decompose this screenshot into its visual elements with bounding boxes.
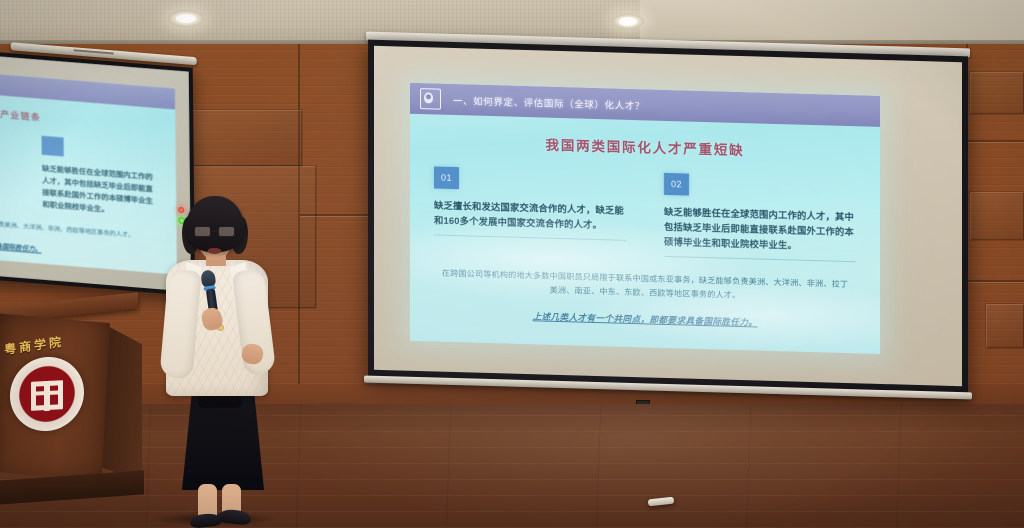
podium-front-panel: 粤 商 学 院 [0, 313, 110, 481]
institution-seal-icon [10, 355, 84, 433]
book-globe-icon [420, 88, 441, 110]
presenter-hair [186, 196, 244, 252]
lecture-hall-scene: 人才产业链条 缺乏能够胜任在全球范围内工作的人才，其中包括缺乏毕业后即能直接联系… [0, 0, 1024, 528]
wall-panel [986, 304, 1024, 348]
podium-base [0, 470, 144, 505]
slide-background-wash [410, 199, 880, 354]
main-screen-frame: 一、如何界定、评估国际（全球）化人才？ 我国两类国际化人才严重短缺 01 缺乏擅… [368, 40, 968, 393]
glasses-bridge [211, 230, 218, 232]
wall-panel [186, 110, 302, 166]
glasses-icon [194, 226, 236, 237]
emblem-char: 粤 [4, 339, 17, 358]
slide-main-title: 我国两类国际化人才严重短缺 [410, 130, 880, 163]
glasses-lens [194, 226, 211, 237]
downlight-icon [168, 10, 204, 27]
downlight-icon [612, 14, 644, 29]
glasses-lens [218, 226, 235, 237]
presenter-mouth [208, 248, 221, 254]
main-screen-surface: 一、如何界定、评估国际（全球）化人才？ 我国两类国际化人才严重短缺 01 缺乏擅… [374, 46, 962, 386]
emblem-char: 商 [19, 337, 32, 356]
presentation-slide: 一、如何界定、评估国际（全球）化人才？ 我国两类国际化人才严重短缺 01 缺乏擅… [410, 83, 880, 354]
institution-name: 粤 商 学 院 [4, 329, 91, 357]
wall-panel [970, 72, 1024, 114]
emblem-char: 院 [49, 333, 62, 352]
seal-glyph [27, 373, 67, 415]
column-badge: 02 [664, 173, 689, 196]
slide-section-title: 一、如何界定、评估国际（全球）化人才？ [453, 92, 645, 111]
emblem-char: 学 [34, 335, 47, 354]
wall-panel [970, 192, 1024, 240]
main-projection-screen: 一、如何界定、评估国际（全球）化人才？ 我国两类国际化人才严重短缺 01 缺乏擅… [368, 38, 968, 399]
roller-label [74, 49, 114, 54]
podium: 粤 商 学 院 [0, 300, 146, 528]
column-badge: 01 [434, 166, 459, 189]
slide-header-bar: 一、如何界定、评估国际（全球）化人才？ [410, 83, 880, 127]
presenter-figure [146, 196, 286, 528]
